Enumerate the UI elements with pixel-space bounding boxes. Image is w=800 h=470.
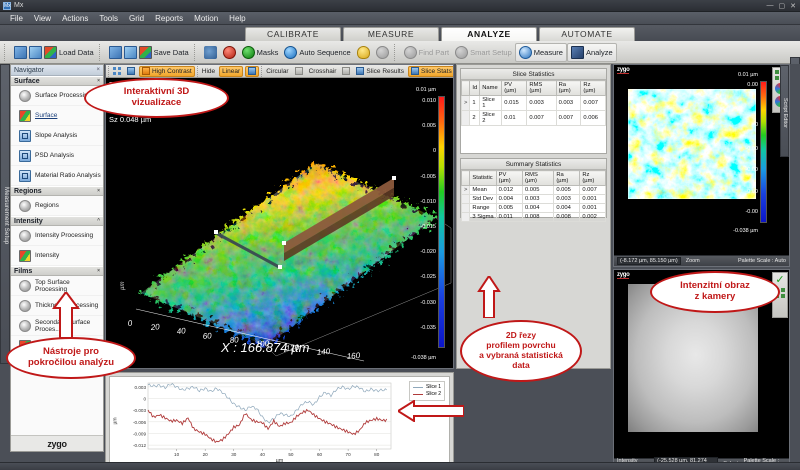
colorbar-tick: 0 (433, 148, 436, 154)
navigator-panel: Navigator × Surface × Surface Processing… (10, 64, 104, 452)
gear-icon (19, 280, 31, 292)
svg-text:µm: µm (120, 282, 126, 290)
cell-pv: 0.01 (502, 111, 527, 126)
load-data-icon-3 (44, 46, 57, 59)
cell-statistic: Mean (470, 186, 496, 195)
cell-id: 1 (470, 96, 480, 111)
linear-button[interactable]: Linear (219, 66, 243, 77)
cell-rms: 0.008 (522, 213, 553, 222)
grid-view-icon (113, 67, 121, 75)
high-contrast-button[interactable]: High Contrast (139, 66, 195, 77)
navigator-group-intensity[interactable]: Intensity ^ (11, 216, 103, 226)
crosshair-button[interactable]: Crosshair (307, 66, 339, 77)
navigator-group-surface[interactable]: Surface × (11, 76, 103, 86)
main-body: Measurement Setup Navigator × Surface × … (0, 64, 800, 470)
toolbar-label-save-data: Save Data (154, 48, 189, 57)
toolbar-button-measure[interactable]: Measure (515, 43, 567, 62)
table-row[interactable]: > Mean 0.012 0.005 0.005 0.007 (462, 186, 606, 195)
colorbar-tick: -0.020 (420, 249, 436, 255)
chevron-icon-surface[interactable]: × (97, 78, 100, 84)
navigator-list[interactable]: Surface × Surface Processing Surface Slo… (11, 76, 103, 435)
group-label-regions: Regions (14, 188, 42, 195)
svg-text:160: 160 (346, 351, 361, 361)
annotation-text: 2D řezyprofilem povrchua vybraná statist… (479, 331, 563, 370)
sidebar-item-regions[interactable]: Regions (11, 196, 103, 216)
svg-text:40: 40 (260, 452, 266, 457)
cell-name: Slice 2 (480, 111, 502, 126)
color-map-icon (19, 250, 31, 262)
legend-label: Slice 1 (426, 384, 441, 391)
row-marker: > (462, 186, 470, 195)
table-row[interactable]: Std Dev 0.004 0.003 0.003 0.001 (462, 195, 606, 204)
print-icon (204, 46, 217, 59)
cell-rms: 0.004 (522, 204, 553, 213)
title-bar: Mx Mx — ▢ ✕ (0, 0, 800, 12)
row-marker: > (462, 96, 470, 111)
menu-item-help[interactable]: Help (229, 14, 245, 23)
navigator-group-films[interactable]: Films × (11, 266, 103, 276)
toolbar-label-find-part: Find Part (419, 48, 449, 57)
col-rms[interactable]: RMS (µm) (527, 81, 556, 96)
map-colorbar-tick: -0.00 (745, 189, 758, 195)
chart-icon (19, 130, 31, 142)
colorbar-tick: -0.005 (420, 174, 436, 180)
svg-text:0: 0 (127, 319, 133, 328)
svg-text:-0.009: -0.009 (133, 431, 146, 436)
toolbar-grip-4[interactable] (394, 44, 399, 61)
cell-ra: 0.005 (554, 186, 580, 195)
colorbar-tick: -0.035 (420, 325, 436, 331)
chart-icon (19, 170, 31, 182)
colorbar-tick: -0.015 (420, 224, 436, 230)
menu-item-tools[interactable]: Tools (99, 14, 118, 23)
menu-item-actions[interactable]: Actions (62, 14, 88, 23)
sidebar-item-label: Intensity (35, 252, 59, 259)
cell-pv: 0.005 (496, 204, 522, 213)
cell-rms: 0.003 (527, 96, 556, 111)
hide-label: Hide (202, 66, 215, 77)
circular-icon (295, 67, 303, 75)
crosshair-label: Crosshair (309, 66, 337, 77)
sidebar-item-label: Top Surface Processing (35, 279, 103, 293)
row-marker (462, 204, 470, 213)
cell-rz: 0.007 (581, 96, 606, 111)
cell-id: 2 (470, 111, 480, 126)
menu-item-motion[interactable]: Motion (194, 14, 218, 23)
profile-chart-svg: 0.0030-0.003-0.006-0.009-0.0121020304050… (110, 377, 453, 469)
col-name[interactable]: Name (480, 81, 502, 96)
window-controls: — ▢ ✕ (767, 2, 800, 10)
cell-pv: 0.011 (496, 213, 522, 222)
navigator-titlebar: Navigator × (11, 65, 103, 76)
cell-name: Slice 1 (480, 96, 502, 111)
toolbar-label-masks: Masks (257, 48, 279, 57)
circular-label: Circular (266, 66, 288, 77)
hide-button[interactable]: Hide (200, 66, 217, 77)
slice-results-label: Slice Results (366, 66, 404, 77)
linear-curve-icon (248, 67, 256, 75)
measurement-setup-tab[interactable]: Measurement Setup (0, 64, 10, 364)
image-view-icon (127, 67, 135, 75)
map-colorbar-tick: -0.00 (745, 209, 758, 215)
load-data-icon-2 (29, 46, 42, 59)
color-map-icon (19, 110, 31, 122)
svg-text:60: 60 (317, 452, 323, 457)
sidebar-item-psd-analysis[interactable]: PSD Analysis (11, 146, 103, 166)
toolbar-button-load-data[interactable]: Load Data (11, 43, 97, 62)
toolbar-button-print[interactable] (201, 43, 220, 62)
slice-results-button[interactable]: Slice Results (354, 66, 406, 77)
svg-text:0: 0 (143, 397, 146, 402)
slice-statistics-caption: Slice Statistics (461, 69, 606, 80)
svg-text:10: 10 (174, 452, 180, 457)
toolbar-grip-3[interactable] (194, 44, 199, 61)
sidebar-item-label: Surface Processing (35, 92, 91, 99)
navigator-group-regions[interactable]: Regions × (11, 186, 103, 196)
map-colorbar-bottom-label: -0.038 µm (733, 228, 758, 234)
toolbar-button-report[interactable] (220, 43, 239, 62)
table-header-row: Id Name PV (µm) RMS (µm) Ra (µm) Rz (µm) (462, 81, 606, 96)
circular-button[interactable]: Circular (264, 66, 290, 77)
light-bulb-icon (357, 46, 370, 59)
legend-swatch (413, 387, 423, 388)
menu-item-grid[interactable]: Grid (129, 14, 144, 23)
toolbar-button-link (373, 43, 392, 62)
sidebar-item-label: Intensity Processing (35, 232, 93, 239)
map-colorbar: 0.01 µm 0.00 0 -0.00 -0.00 -0.00 -0.00 -… (727, 71, 769, 235)
ribbon-toolbar: Load Data Save Data Masks Auto Sequence (0, 41, 800, 64)
cell-rz: 0.006 (581, 111, 606, 126)
annotation-text: Interaktivní 3Dvizualizace (124, 87, 189, 109)
sidebar-item-intensity-processing[interactable]: Intensity Processing (11, 226, 103, 246)
window-title: Mx (14, 2, 23, 9)
toolbar-grip[interactable] (4, 44, 9, 61)
svg-text:30: 30 (231, 452, 237, 457)
svg-text:50: 50 (288, 452, 294, 457)
gear-icon (19, 300, 31, 312)
high-contrast-label: High Contrast (152, 66, 192, 77)
svg-text:-0.012: -0.012 (133, 443, 146, 448)
save-data-icon-3 (139, 46, 152, 59)
cell-statistic: 3 Sigma (470, 213, 496, 222)
svg-text:-0.003: -0.003 (133, 408, 146, 413)
smart-setup-icon (455, 46, 468, 59)
sidebar-item-label: PSD Analysis (35, 152, 74, 159)
cell-rz: 0.007 (580, 186, 606, 195)
crosshair-icon (342, 67, 350, 75)
toolbar-button-auto-sequence[interactable]: Auto Sequence (281, 43, 353, 62)
map-palette-scale[interactable]: Palette Scale : Auto (738, 258, 786, 264)
close-button[interactable]: ✕ (790, 2, 796, 10)
analyze-icon (571, 46, 584, 59)
table-row[interactable]: 3 Sigma 0.011 0.008 0.008 0.002 (462, 213, 606, 222)
svg-text:0.003: 0.003 (135, 385, 147, 390)
circular-icon-button[interactable] (293, 66, 305, 77)
colorbar-top-label: 0.01 µm (416, 87, 436, 93)
row-marker (462, 213, 470, 222)
colorbar-tick: -0.025 (420, 274, 436, 280)
legend-swatch (413, 394, 423, 395)
col-rz[interactable]: Rz (µm) (581, 81, 606, 96)
zygo-logo: zygo (47, 439, 66, 449)
navigator-close-icon[interactable]: × (96, 65, 100, 76)
cell-rz: 0.001 (580, 204, 606, 213)
colorbar-gradient (438, 96, 445, 348)
menu-item-view[interactable]: View (34, 14, 51, 23)
map-colorbar-tick: 0 (755, 122, 758, 128)
surface-3d-toolbar: High Contrast Hide Linear Circular Cross… (106, 65, 453, 78)
cell-pv: 0.015 (502, 96, 527, 111)
svg-text:-0.006: -0.006 (133, 420, 146, 425)
menu-item-file[interactable]: File (10, 14, 23, 23)
cell-rz: 0.002 (580, 213, 606, 222)
sidebar-item-material-ratio-analysis[interactable]: Material Ratio Analysis (11, 166, 103, 186)
col-ra[interactable]: Ra (µm) (556, 81, 581, 96)
surface-colorbar: 0.01 µm 0.010 0.005 0 -0.005 -0.010 -0.0… (405, 86, 447, 362)
svg-text:20: 20 (203, 452, 209, 457)
contrast-icon (142, 67, 150, 75)
crosshair-icon-button[interactable] (340, 66, 352, 77)
toolbar-grip-3d-2[interactable] (197, 66, 198, 77)
map-status-bar: (-8.172 µm, 85.150 µm) Zoom Palette Scal… (614, 255, 789, 266)
slice-results-icon (356, 67, 364, 75)
slice-stats-button[interactable]: Slice Stats (408, 66, 453, 77)
cell-statistic: Std Dev (470, 195, 496, 204)
zygo-watermark: zygo (617, 67, 629, 74)
svg-text:20: 20 (149, 322, 160, 332)
cell-rms: 0.005 (522, 186, 553, 195)
surface-3d-canvas[interactable]: zygo Sa 0.003 µm Sq 0.003 µm Sz 0.048 µm (106, 78, 453, 368)
sidebar-item-label: Regions (35, 202, 59, 209)
gear-icon (19, 200, 31, 212)
toolbar-button-find-part: Find Part (401, 43, 452, 62)
cell-statistic: Range (470, 204, 496, 213)
measure-icon (519, 46, 532, 59)
chevron-icon-intensity[interactable]: ^ (97, 218, 100, 224)
table-row[interactable]: Range 0.005 0.004 0.004 0.001 (462, 204, 606, 213)
chevron-icon-films[interactable]: × (97, 268, 100, 274)
col-pv[interactable]: PV (µm) (502, 81, 527, 96)
navigator-footer: zygo (11, 435, 103, 451)
arrow-to-navigator (52, 292, 80, 338)
row-marker (462, 111, 470, 126)
annotation-text: Nástroje propokročilou analýzu (28, 347, 114, 369)
cell-pv: 0.004 (496, 195, 522, 204)
toolbar-button-light[interactable] (354, 43, 373, 62)
svg-text:80: 80 (374, 452, 380, 457)
svg-text:40: 40 (176, 326, 186, 336)
toolbar-label-measure: Measure (534, 48, 563, 57)
table-row[interactable]: 2 Slice 2 0.01 0.007 0.007 0.006 (462, 111, 606, 126)
sidebar-item-surface[interactable]: Surface (11, 106, 103, 126)
cell-ra: 0.003 (556, 96, 581, 111)
report-icon (223, 46, 236, 59)
cell-ra: 0.003 (554, 195, 580, 204)
row-marker-header (462, 81, 470, 96)
table-row[interactable]: > 1 Slice 1 0.015 0.003 0.003 0.007 (462, 96, 606, 111)
cell-ra: 0.007 (556, 111, 581, 126)
annotation-advanced-tools: Nástroje propokročilou analýzu (6, 337, 136, 379)
gear-icon (19, 230, 31, 242)
toolbar-grip-3d[interactable] (108, 66, 109, 77)
map-colorbar-top-label: 0.01 µm (738, 72, 758, 78)
map-colorbar-tick: -0.00 (745, 167, 758, 173)
cell-ra: 0.008 (554, 213, 580, 222)
toolbar-button-save-data[interactable]: Save Data (106, 43, 192, 62)
summary-statistics-caption: Summary Statistics (461, 159, 606, 170)
toolbar-label-smart-setup: Smart Setup (470, 48, 512, 57)
svg-text:70: 70 (346, 452, 352, 457)
legend-label: Slice 2 (426, 391, 441, 398)
toolbar-button-analyze[interactable]: Analyze (567, 43, 617, 62)
gear-icon (19, 90, 31, 102)
menu-item-reports[interactable]: Reports (155, 14, 183, 23)
arrow-to-stats (477, 276, 501, 318)
group-label-surface: Surface (14, 78, 40, 85)
slice-stats-label: Slice Stats (421, 66, 452, 77)
table-header-row: Statistic PV (µm) RMS (µm) Ra (µm) Rz (µ… (462, 171, 606, 186)
map-colorbar-gradient (760, 81, 767, 223)
svg-text:140: 140 (316, 347, 331, 357)
colorbar-ticks: 0.010 0.005 0 -0.005 -0.010 -0.015 -0.02… (404, 96, 436, 348)
group-label-intensity: Intensity (14, 218, 43, 225)
minimize-button[interactable]: — (767, 2, 774, 10)
slice-statistics-box: Slice Statistics Id Name PV (µm) RMS (µm… (460, 68, 607, 154)
toolbar-button-smart-setup: Smart Setup (452, 43, 515, 62)
zygo-watermark: zygo (617, 272, 629, 279)
masks-icon (242, 46, 255, 59)
col-pv[interactable]: PV (µm) (496, 171, 522, 186)
tab-automate[interactable]: AUTOMATE (539, 27, 635, 41)
app-icon: Mx (3, 2, 11, 10)
annotation-camera-intensity: Intenzitní obrazz kamery (650, 271, 780, 313)
legend-entry-slice2: Slice 2 (413, 391, 441, 398)
map-coordinate-readout: (-8.172 µm, 85.150 µm) (617, 257, 681, 265)
tab-calibrate[interactable]: CALIBRATE (245, 27, 341, 41)
slice-stats-icon (411, 67, 419, 75)
cell-pv: 0.012 (496, 186, 522, 195)
save-data-icon-2 (124, 46, 137, 59)
cell-rms: 0.003 (522, 195, 553, 204)
map-colorbar-ticks: 0.00 0 -0.00 -0.00 -0.00 -0.00 (726, 81, 758, 223)
ribbon-tabstrip: CALIBRATE MEASURE ANALYZE AUTOMATE (0, 25, 800, 41)
toolbar-label-analyze: Analyze (586, 48, 613, 57)
col-rms[interactable]: RMS (µm) (522, 171, 553, 186)
colorbar-tick: 0.010 (422, 98, 436, 104)
tab-analyze[interactable]: ANALYZE (441, 27, 537, 41)
map-colorbar-tick: 0.00 (747, 82, 758, 88)
slice-statistics-body[interactable]: Id Name PV (µm) RMS (µm) Ra (µm) Rz (µm)… (461, 80, 606, 153)
slice-statistics-table: Id Name PV (µm) RMS (µm) Ra (µm) Rz (µm)… (461, 80, 606, 126)
cell-rz: 0.001 (580, 195, 606, 204)
annotation-3d-visualization: Interaktivní 3Dvizualizace (84, 78, 229, 118)
colorbar-tick: 0.005 (422, 123, 436, 129)
sidebar-item-label: Slope Analysis (35, 132, 77, 139)
x-axis-label: X : 166.874 µm (221, 340, 309, 355)
script-editor-tab[interactable]: Script Editor (780, 65, 789, 157)
col-id[interactable]: Id (470, 81, 480, 96)
sidebar-item-intensity[interactable]: Intensity (11, 246, 103, 266)
sidebar-item-label: Material Ratio Analysis (35, 172, 101, 179)
link-icon (376, 46, 389, 59)
map-action-label[interactable]: Zoom (686, 258, 700, 264)
chart-icon (19, 150, 31, 162)
gear-icon (19, 320, 31, 332)
svg-text:60: 60 (202, 331, 212, 341)
toolbar-label-auto-sequence: Auto Sequence (299, 48, 350, 57)
auto-sequence-icon (284, 46, 297, 59)
toolbar-grip-3d-3[interactable] (261, 66, 262, 77)
surface-map-panel[interactable]: zygo 0.01 µm (613, 64, 790, 267)
save-data-icon (109, 46, 122, 59)
col-statistic[interactable]: Statistic (470, 171, 496, 186)
load-data-icon (14, 46, 27, 59)
colorbar-tick: -0.030 (420, 300, 436, 306)
chevron-icon-regions[interactable]: × (97, 188, 100, 194)
row-marker-header (462, 171, 470, 186)
application-window: Mx Mx — ▢ ✕ File View Actions Tools Grid… (0, 0, 800, 470)
x-axis-ticks: 0 20 40 60 80 100 120 140 160 µm (106, 78, 453, 368)
cell-ra: 0.004 (554, 204, 580, 213)
annotation-2d-slices: 2D řezyprofilem povrchua vybraná statist… (460, 320, 582, 382)
col-ra[interactable]: Ra (µm) (554, 171, 580, 186)
legend-entry-slice1: Slice 1 (413, 384, 441, 391)
application-status-bar (0, 462, 800, 470)
map-colorbar-tick: -0.00 (745, 146, 758, 152)
summary-statistics-box: Summary Statistics Statistic PV (µm) RMS… (460, 158, 607, 218)
tab-measure[interactable]: MEASURE (343, 27, 439, 41)
image-view-button[interactable] (125, 66, 137, 77)
linear-label: Linear (222, 66, 240, 77)
toolbar-label-load-data: Load Data (59, 48, 94, 57)
arrow-to-chart (398, 400, 464, 422)
sidebar-item-label: Surface (35, 112, 57, 119)
annotation-text: Intenzitní obrazz kamery (680, 281, 750, 303)
group-label-films: Films (14, 268, 32, 275)
cell-rms: 0.007 (527, 111, 556, 126)
maximize-button[interactable]: ▢ (779, 2, 786, 10)
grid-view-button[interactable] (111, 66, 123, 77)
menu-bar: File View Actions Tools Grid Reports Mot… (0, 12, 800, 25)
toolbar-grip-2[interactable] (99, 44, 104, 61)
row-marker (462, 195, 470, 204)
summary-statistics-body[interactable]: Statistic PV (µm) RMS (µm) Ra (µm) Rz (µ… (461, 170, 606, 217)
sidebar-item-slope-analysis[interactable]: Slope Analysis (11, 126, 103, 146)
col-rz[interactable]: Rz (µm) (580, 171, 606, 186)
colorbar-tick: -0.010 (420, 199, 436, 205)
navigator-title: Navigator (14, 65, 44, 76)
find-part-icon (404, 46, 417, 59)
toolbar-button-masks[interactable]: Masks (239, 43, 282, 62)
linear-curve-button[interactable] (245, 66, 259, 77)
summary-statistics-table: Statistic PV (µm) RMS (µm) Ra (µm) Rz (µ… (461, 170, 606, 222)
chart-legend: Slice 1 Slice 2 (409, 381, 445, 401)
colorbar-bottom-label: -0.038 µm (411, 355, 436, 361)
